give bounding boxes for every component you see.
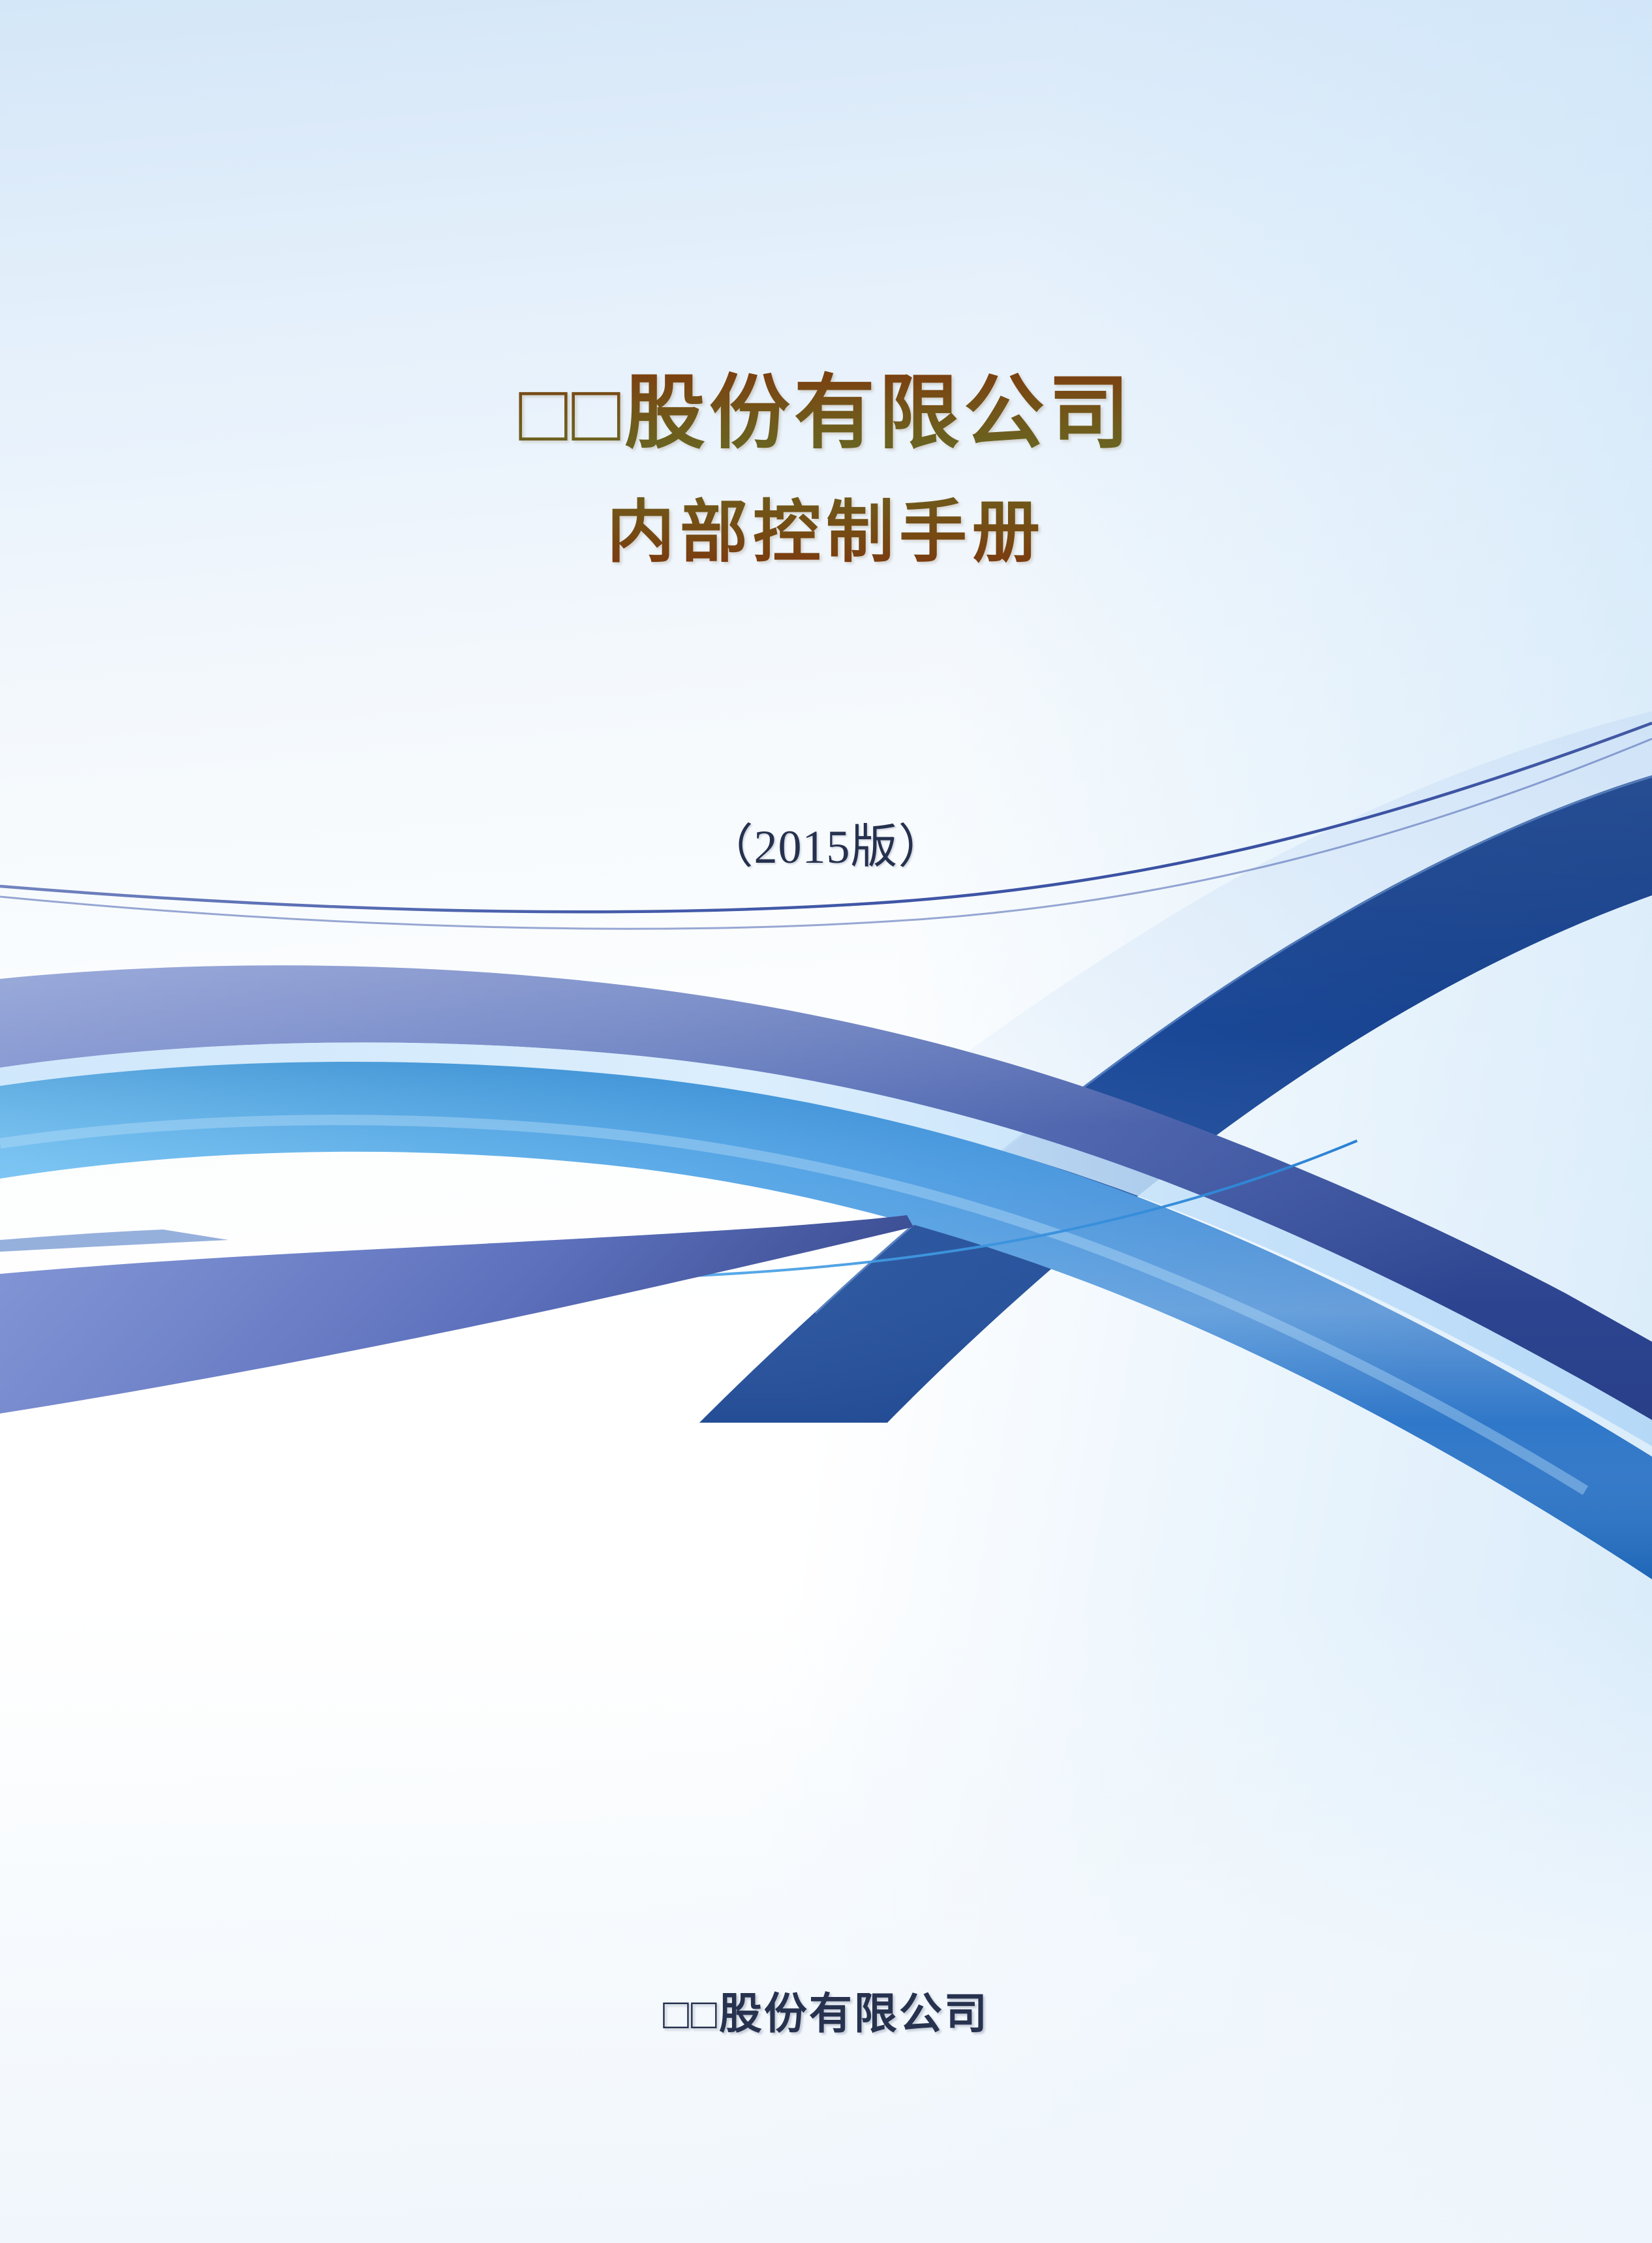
periwinkle-wave-band [0, 965, 1652, 1420]
footer-block: □□股份有限公司 [0, 1979, 1652, 2041]
sky-blue-wave-band-shade [0, 1062, 1652, 1579]
title-block: □□股份有限公司 内部控制手册 [0, 365, 1652, 574]
thin-sky-curve [0, 1141, 1357, 1300]
pale-sweep-shape [789, 711, 1652, 1240]
decorative-wave-artwork [0, 0, 1652, 2243]
periwinkle-sky-sliver [0, 1042, 1652, 1446]
periwinkle-taper-shape [0, 1215, 913, 1414]
company-title: □□股份有限公司 [0, 365, 1652, 461]
sky-blue-wave-band [0, 1062, 1652, 1579]
footer-company-name: □□股份有限公司 [0, 1979, 1652, 2041]
version-label: （2015版） [0, 808, 1652, 876]
sky-band-left-wedge [0, 1230, 228, 1252]
document-title: 内部控制手册 [0, 461, 1652, 574]
sky-band-inner-highlight [0, 1120, 1585, 1491]
periwinkle-wave-band-shade [0, 965, 1652, 1420]
page-canvas: □□股份有限公司 内部控制手册 （2015版） □□股份有限公司 [0, 0, 1652, 2243]
version-block: （2015版） [0, 808, 1652, 876]
background-tint-bottom [0, 1603, 1652, 2243]
background-tint-right [0, 0, 1652, 2243]
